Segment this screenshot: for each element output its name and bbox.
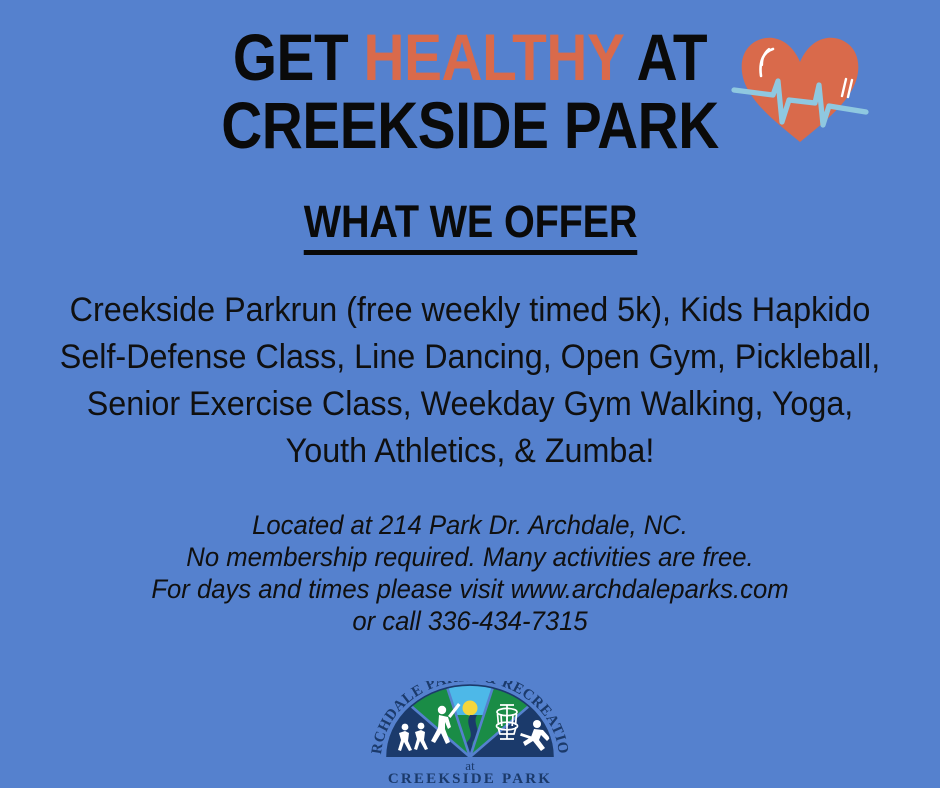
offerings-line: Creekside Parkrun (free weekly timed 5k)… [24, 287, 917, 334]
details-membership-line: No membership required. Many activities … [24, 541, 917, 573]
page-subheading: WHAT WE OFFER [0, 196, 940, 255]
headline-word-get: GET [233, 20, 364, 94]
details-address-line: Located at 214 Park Dr. Archdale, NC. [24, 509, 917, 541]
heart-shape [742, 38, 859, 142]
offerings-line: Youth Athletics, & Zumba! [24, 428, 917, 475]
archdale-parks-recreation-logo: ARCHDALE PARKS & RECREATION [371, 681, 569, 785]
headline-word-at: AT [623, 20, 707, 94]
details-phone-line[interactable]: or call 336-434-7315 [24, 605, 917, 637]
flyer-poster: GET HEALTHY AT CREEKSIDE PARK WHAT WE OF… [0, 0, 940, 788]
offerings-line: Self-Defense Class, Line Dancing, Open G… [24, 334, 917, 381]
details-website-line[interactable]: For days and times please visit www.arch… [24, 573, 917, 605]
offerings-line: Senior Exercise Class, Weekday Gym Walki… [24, 381, 917, 428]
headline-word-healthy: HEALTHY [364, 20, 624, 94]
logo-park-name: CREEKSIDE PARK [388, 771, 552, 785]
heart-icon [729, 24, 871, 146]
offerings-list: Creekside Parkrun (free weekly timed 5k)… [0, 287, 940, 475]
details-block: Located at 214 Park Dr. Archdale, NC. No… [0, 509, 940, 637]
page-subheading-label: WHAT WE OFFER [303, 196, 637, 255]
